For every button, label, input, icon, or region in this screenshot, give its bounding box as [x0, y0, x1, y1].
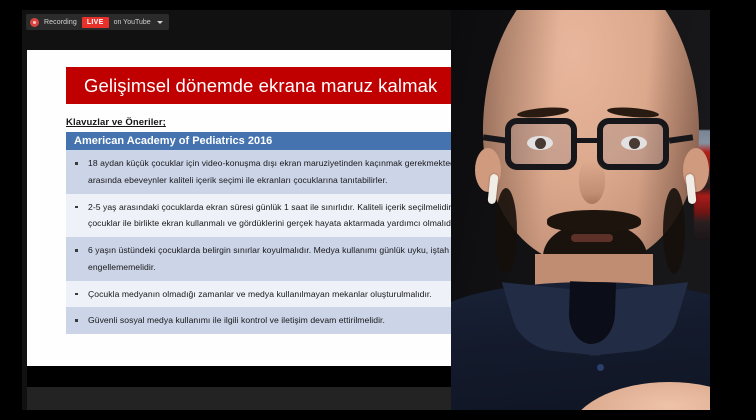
meeting-video-frame: Gelişimsel dönemde ekrana maruz kalmak K… [22, 10, 733, 410]
presenter-mouth [571, 234, 613, 242]
bullet-marker-icon [75, 206, 78, 209]
eyeglasses-lens-left [505, 118, 577, 170]
bullet-marker-icon [75, 249, 78, 252]
chevron-down-icon[interactable] [157, 21, 163, 24]
section-label: Klavuzlar ve Öneriler; [66, 117, 166, 128]
eyeglasses-lens-right [597, 118, 669, 170]
presenter-mustache [547, 210, 641, 232]
video-conference-screen: Recording LIVE on YouTube Gelişimsel dön… [0, 0, 756, 420]
video-tile-gutter [710, 10, 733, 410]
bullet-marker-icon [75, 319, 78, 322]
presenter-beard-left [495, 188, 517, 274]
source-heading-text: American Academy of Pediatrics 2016 [66, 135, 272, 147]
record-dot-icon [30, 18, 39, 27]
recording-label: Recording [44, 19, 77, 26]
presenter-video-tile[interactable] [451, 10, 733, 410]
shirt-button [597, 364, 604, 371]
presenter-beard-right [663, 188, 685, 274]
streaming-destination-label: on YouTube [114, 19, 151, 26]
presenter-nose [579, 160, 605, 204]
bullet-marker-icon [75, 162, 78, 165]
source-heading-bar: American Academy of Pediatrics 2016 [66, 132, 492, 150]
page-title: Gelişimsel dönemde ekrana maruz kalmak [66, 75, 437, 97]
eyeglasses-bridge [575, 138, 601, 143]
live-badge: LIVE [82, 17, 109, 28]
recording-status-bar[interactable]: Recording LIVE on YouTube [26, 14, 169, 30]
bullet-marker-icon [75, 293, 78, 296]
